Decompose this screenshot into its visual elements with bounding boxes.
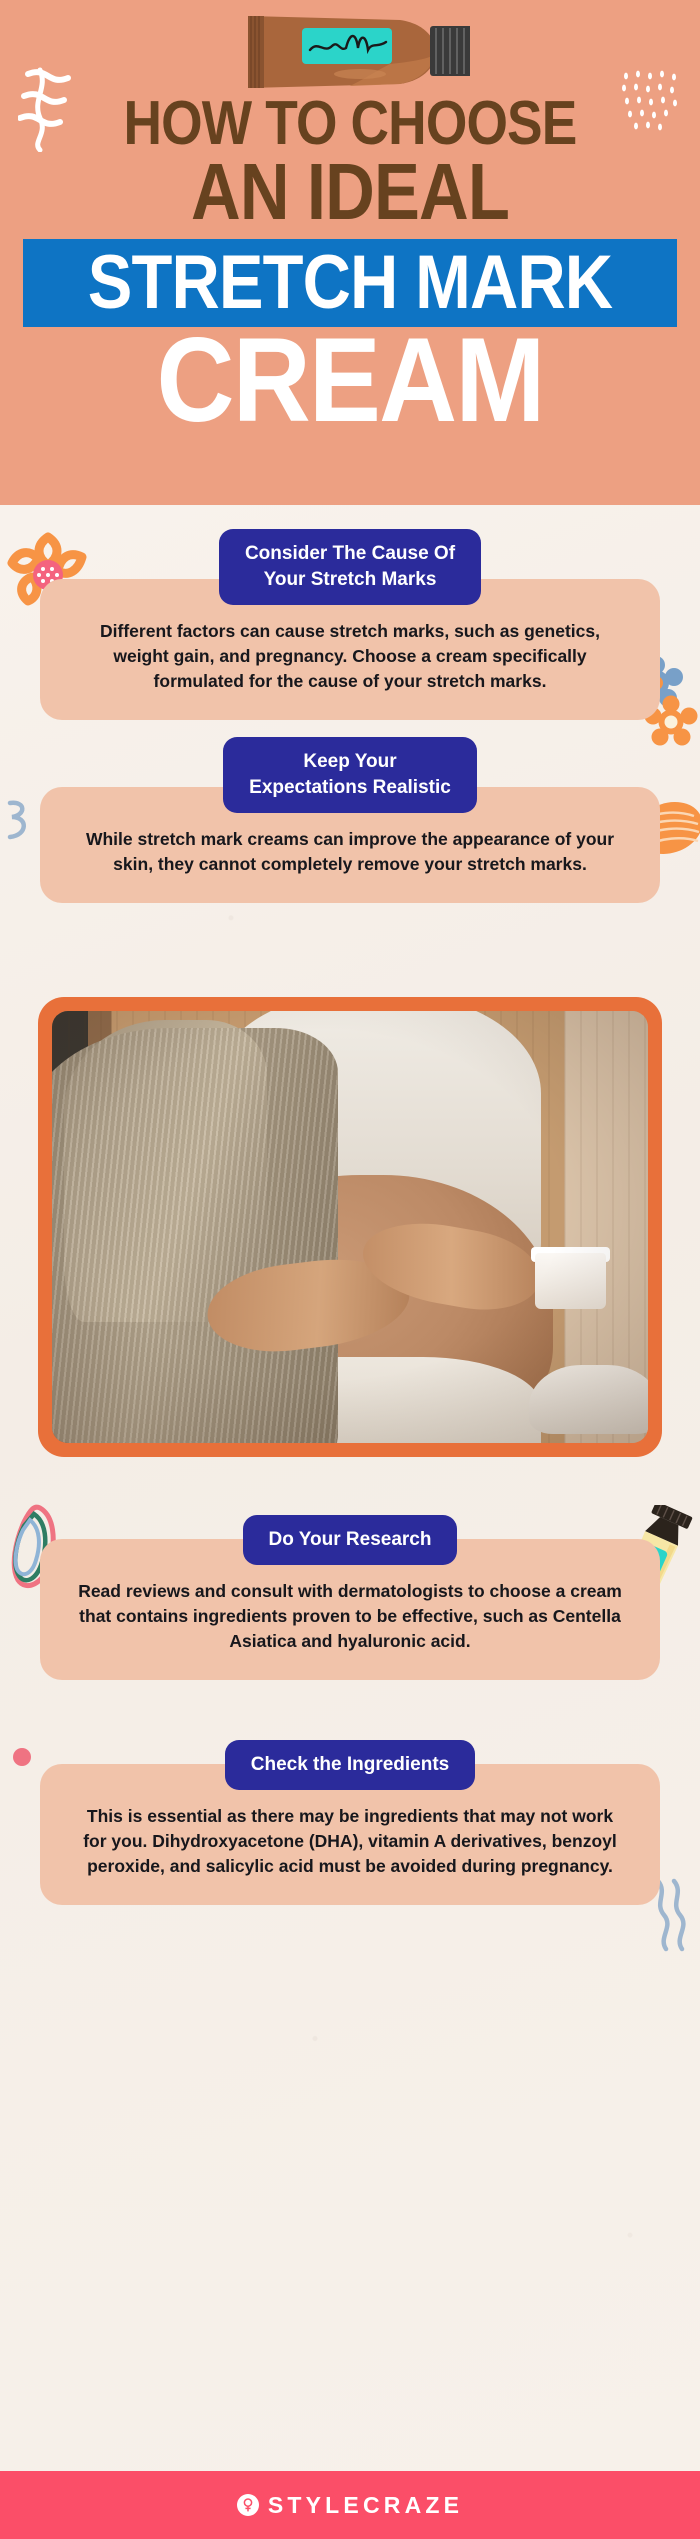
card-title-badge: Check the Ingredients [225,1740,476,1790]
card-do-your-research: Do Your Research Read reviews and consul… [40,1515,660,1680]
card-title-badge: Do Your Research [243,1515,458,1565]
headline-line-2: AN IDEAL [49,152,651,232]
stylecraze-logo-icon [237,2494,259,2516]
headline-line-3: STRETCH MARK [88,245,612,321]
pregnancy-photo [52,1011,648,1443]
card-title-line-1: Consider The Cause Of [245,543,455,564]
card-title-line-2: Your Stretch Marks [264,569,437,590]
brand-name: STYLECRAZE [268,2492,463,2519]
card-title-badge: Consider The Cause Of Your Stretch Marks [219,529,481,605]
squiggle-arc-icon [4,797,34,843]
header-banner: HOW TO CHOOSE AN IDEAL STRETCH MARK CREA… [0,0,700,505]
dot-pink-icon [10,1745,34,1769]
headline-line-1: HOW TO CHOOSE [49,93,651,155]
card-title-badge: Keep Your Expectations Realistic [223,737,477,813]
card-title-line-1: Check the Ingredients [251,1754,450,1775]
headline-line-4: CREAM [35,320,665,440]
cream-tube-icon [240,8,470,98]
card-check-the-ingredients: Check the Ingredients This is essential … [40,1740,660,1905]
card-title-line-1: Do Your Research [269,1529,432,1550]
footer-bar: STYLECRAZE [0,2471,700,2539]
content-area: Consider The Cause Of Your Stretch Marks… [0,505,700,2471]
photo-frame [38,997,662,1457]
card-title-line-1: Keep Your [303,751,396,772]
card-keep-expectations-realistic: Keep Your Expectations Realistic While s… [40,737,660,903]
card-consider-the-cause: Consider The Cause Of Your Stretch Marks… [40,529,660,720]
card-title-line-2: Expectations Realistic [249,777,451,798]
